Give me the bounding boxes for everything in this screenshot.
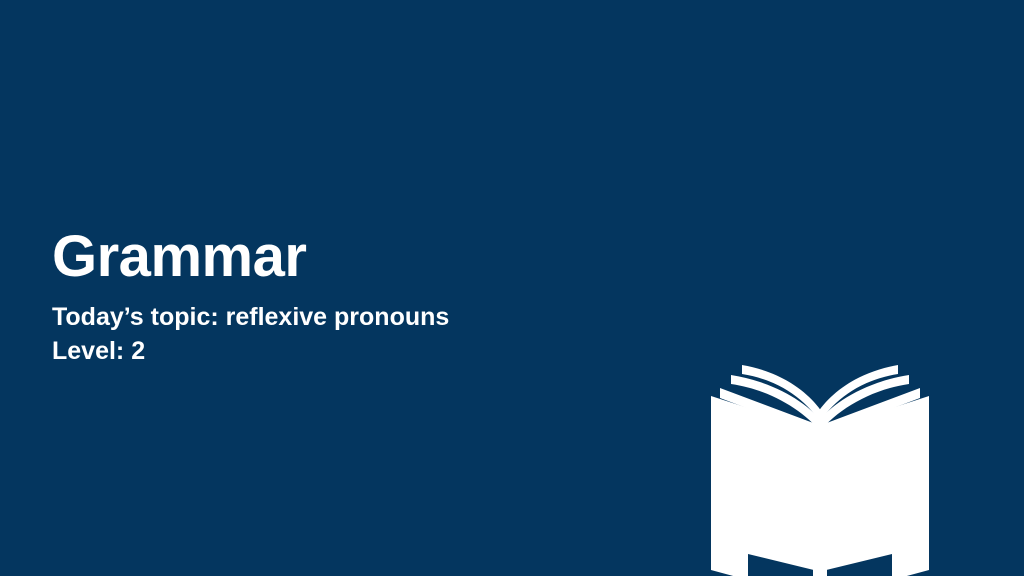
subtitle-topic: Today’s topic: reflexive pronouns <box>52 300 672 334</box>
open-book-icon <box>700 358 940 576</box>
subtitle-level: Level: 2 <box>52 334 672 368</box>
page-title: Grammar <box>52 228 672 286</box>
title-block: Grammar Today’s topic: reflexive pronoun… <box>52 228 672 368</box>
slide-canvas: Grammar Today’s topic: reflexive pronoun… <box>0 0 1024 576</box>
